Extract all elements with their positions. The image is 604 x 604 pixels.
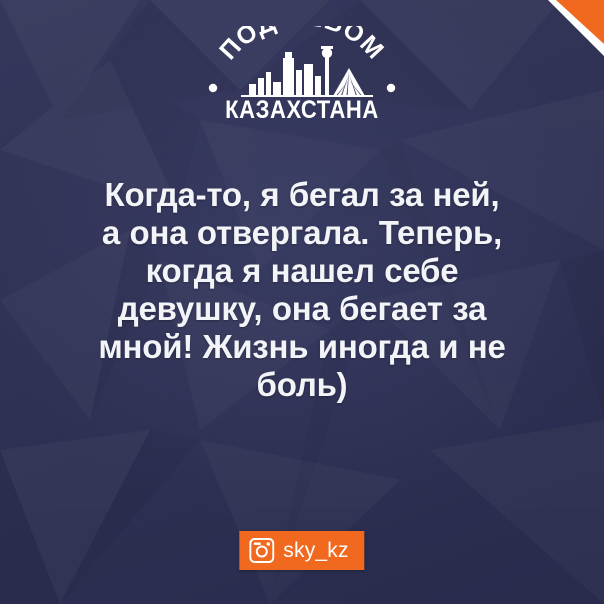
quote-line: мной! Жизнь иногда и не — [48, 328, 556, 366]
quote-line: девушку, она бегает за — [48, 290, 556, 328]
instagram-badge[interactable]: sky_kz — [239, 531, 364, 570]
quote-line: боль) — [48, 366, 556, 404]
quote-line: когда я нашел себе — [48, 252, 556, 290]
logo-dot-right — [387, 84, 395, 92]
meme-card: ПОД НЕБОМ — [0, 0, 604, 604]
brand-logo: ПОД НЕБОМ — [0, 26, 604, 122]
instagram-handle: sky_kz — [283, 538, 348, 563]
logo-arc-text: ПОД НЕБОМ — [214, 26, 390, 65]
logo-dot-left — [209, 84, 217, 92]
quote-text: Когда-то, я бегал за ней, а она отвергал… — [48, 176, 556, 404]
skyline-emblem — [241, 46, 373, 97]
logo-base-text: КАЗАХСТАНА — [225, 96, 379, 122]
quote-line: Когда-то, я бегал за ней, — [48, 176, 556, 214]
quote-line: а она отвергала. Теперь, — [48, 214, 556, 252]
instagram-icon — [249, 538, 274, 563]
